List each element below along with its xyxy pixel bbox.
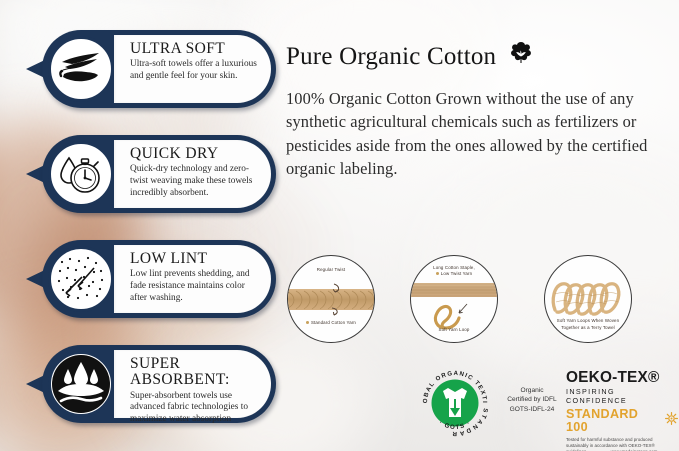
hand-feather-icon — [48, 36, 114, 102]
gots-line-2: Certified by IDFL — [500, 395, 564, 404]
oeko-tex-standard: STANDARD 100 — [566, 408, 661, 433]
oeko-tex-logo: OEKO-TEX® INSPIRING CONFIDENCE STANDARD … — [566, 370, 678, 451]
card-body: QUICK DRY Quick-dry technology and zero-… — [42, 135, 276, 213]
oeko-tex-brand: OEKO-TEX® — [566, 370, 678, 385]
feature-card-super-absorbent: SUPER ABSORBENT: Super-absorbent towels … — [26, 345, 276, 423]
regular-twist-yarn-icon: Regular Twist Standard Cotton Yarn — [287, 255, 375, 343]
gots-line-1: Organic — [500, 386, 564, 395]
certification-group: GLOBAL ORGANIC TEXTILE · GOTS · S T A N … — [418, 362, 673, 444]
svg-text:S: S — [481, 408, 489, 413]
lint-particles-icon — [48, 246, 114, 312]
card-text-panel: QUICK DRY Quick-dry technology and zero-… — [114, 140, 271, 208]
feature-title: QUICK DRY — [130, 146, 259, 162]
card-body: ULTRA SOFT Ultra-soft towels offer a lux… — [42, 30, 276, 108]
feature-title: ULTRA SOFT — [130, 41, 259, 57]
yarn-diagram-group: Regular Twist Standard Cotton Yarn — [282, 252, 668, 348]
feature-description: Low lint prevents shedding, and fade res… — [130, 269, 259, 305]
bullet-dot-icon — [306, 321, 309, 324]
terry-towel-loops-icon: Soft Yarn Loops When Woven Together as a… — [544, 255, 632, 343]
feature-card-low-lint: LOW LINT Low lint prevents shedding, and… — [26, 240, 276, 318]
oeko-tex-tagline: INSPIRING CONFIDENCE — [566, 387, 678, 405]
yarn-label-bottom: Standard Cotton Yarn — [288, 320, 374, 326]
feature-card-ultra-soft: ULTRA SOFT Ultra-soft towels offer a lux… — [26, 30, 276, 108]
gots-line-3: GOTS-IDFL-24 — [500, 405, 564, 414]
oeko-tex-fine-print: Tested for harmful substance and produce… — [566, 437, 678, 451]
gots-certification-text: Organic Certified by IDFL GOTS-IDFL-24 — [500, 386, 564, 414]
svg-text:N: N — [471, 422, 479, 430]
headline-text: Pure Organic Cotton — [286, 43, 496, 71]
low-twist-yarn-loop-icon: Long Cotton Staple, Low Twist Yarn Soft … — [410, 255, 498, 343]
main-paragraph: 100% Organic Cotton Grown without the us… — [286, 87, 666, 180]
feature-card-list: ULTRA SOFT Ultra-soft towels offer a lux… — [26, 30, 276, 450]
infographic-canvas: ULTRA SOFT Ultra-soft towels offer a lux… — [0, 0, 679, 451]
yarn-label-bottom: Soft Yarn Loop — [411, 327, 497, 333]
sun-burst-icon — [665, 412, 678, 430]
bullet-dot-icon — [436, 272, 439, 275]
svg-text:R: R — [452, 430, 457, 437]
cotton-boll-icon — [508, 40, 534, 73]
feature-title: LOW LINT — [130, 251, 259, 267]
card-body: SUPER ABSORBENT: Super-absorbent towels … — [42, 345, 276, 423]
svg-text:A: A — [459, 429, 465, 437]
yarn-label-bottom: Soft Yarn Loops When Woven — [545, 318, 631, 324]
yarn-label-bottom-2: Together as a Terry Towel — [545, 325, 631, 331]
card-text-panel: SUPER ABSORBENT: Super-absorbent towels … — [114, 350, 271, 418]
card-text-panel: ULTRA SOFT Ultra-soft towels offer a lux… — [114, 35, 271, 103]
feature-description: Ultra-soft towels offer a luxurious and … — [130, 59, 259, 83]
feature-description: Quick-dry technology and zero-twist weav… — [130, 164, 259, 200]
card-text-panel: LOW LINT Low lint prevents shedding, and… — [114, 245, 271, 313]
page-title: Pure Organic Cotton — [286, 40, 666, 73]
feature-description: Super-absorbent towels use advanced fabr… — [130, 391, 259, 427]
feature-card-quick-dry: QUICK DRY Quick-dry technology and zero-… — [26, 135, 276, 213]
yarn-label-top: Long Cotton Staple, Low Twist Yarn — [411, 265, 497, 277]
main-content: Pure Organic Cotton 100% Organic Cotton … — [286, 40, 666, 180]
water-absorb-icon — [48, 351, 114, 417]
stopwatch-droplet-icon — [48, 141, 114, 207]
gots-logo-icon: GLOBAL ORGANIC TEXTILE · GOTS · S T A N … — [418, 366, 492, 440]
card-body: LOW LINT Low lint prevents shedding, and… — [42, 240, 276, 318]
yarn-label-top: Regular Twist — [288, 267, 374, 273]
feature-title: SUPER ABSORBENT: — [130, 356, 259, 389]
